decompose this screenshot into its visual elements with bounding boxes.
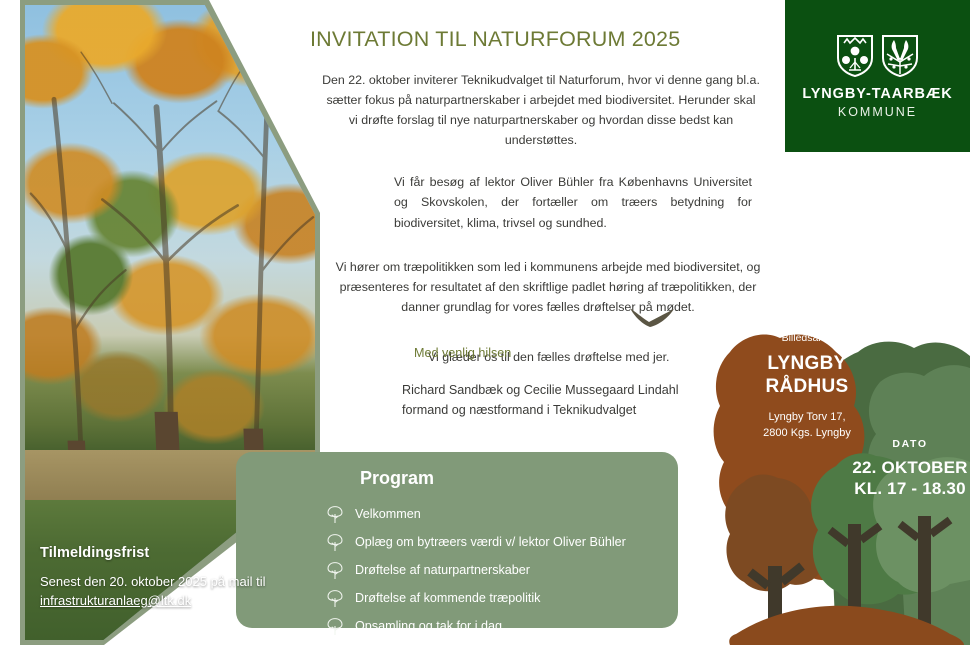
logo-shields bbox=[836, 34, 919, 78]
tree-icon bbox=[326, 504, 344, 524]
program-item-label: Oplæg om bytræers værdi v/ lektor Oliver… bbox=[355, 535, 626, 549]
crossed-oars-shield-icon bbox=[881, 34, 919, 78]
deadline-heading: Tilmeldingsfrist bbox=[40, 545, 272, 561]
tree-icon bbox=[326, 616, 344, 636]
municipality-logo: LYNGBY-TAARBÆK KOMMUNE bbox=[785, 0, 970, 152]
signature-greeting: Med venlig hilsen bbox=[414, 346, 511, 360]
program-item-label: Drøftelse af kommende træpolitik bbox=[355, 591, 540, 605]
page-title: INVITATION TIL NATURFORUM 2025 bbox=[310, 27, 680, 52]
body-paragraph-3: Vi hører om træpolitikken som led i komm… bbox=[320, 257, 776, 317]
deadline-email-link[interactable]: infrastrukturanlaeg@ltk.dk bbox=[40, 593, 191, 608]
tree-icon bbox=[326, 532, 344, 552]
venue-name-line1: LYNGBY bbox=[732, 353, 882, 376]
venue-address-line1: Lyngby Torv 17, bbox=[768, 411, 845, 423]
deadline-text: Senest den 20. oktober 2025 på mail til … bbox=[40, 573, 272, 611]
date-block: DATO 22. OKTOBER KL. 17 - 18.30 bbox=[830, 438, 970, 500]
info-blobs: STED Billedsalen LYNGBY RÅDHUS Lyngby To… bbox=[710, 286, 970, 645]
deadline-sentence: Senest den 20. oktober 2025 på mail til bbox=[40, 574, 265, 589]
program-list: Velkommen Oplæg om bytræers værdi v/ lek… bbox=[326, 500, 626, 640]
program-panel: Program Velkommen Oplæg om bytræers værd… bbox=[236, 452, 678, 628]
crown-clover-shield-icon bbox=[836, 34, 874, 78]
poster-canvas: Tilmeldingsfrist Senest den 20. oktober … bbox=[0, 0, 970, 645]
venue-label: STED bbox=[732, 313, 882, 325]
program-item: Drøftelse af naturpartnerskaber bbox=[326, 556, 626, 584]
tree-icon bbox=[326, 560, 344, 580]
program-item-label: Opsamling og tak for i dag bbox=[355, 619, 502, 633]
signature-block: Richard Sandbæk og Cecilie Mussegaard Li… bbox=[402, 380, 679, 420]
bird-icon bbox=[624, 302, 684, 336]
program-heading: Program bbox=[360, 468, 434, 489]
program-item: Velkommen bbox=[326, 500, 626, 528]
date-label: DATO bbox=[830, 438, 970, 450]
deadline-block: Tilmeldingsfrist Senest den 20. oktober … bbox=[40, 545, 272, 611]
body-paragraph-1: Den 22. oktober inviterer Teknikudvalget… bbox=[306, 70, 776, 150]
program-item: Oplæg om bytræers værdi v/ lektor Oliver… bbox=[326, 528, 626, 556]
body-text: Den 22. oktober inviterer Teknikudvalget… bbox=[306, 70, 776, 367]
logo-subtitle: KOMMUNE bbox=[838, 106, 917, 119]
venue-address-line2: 2800 Kgs. Lyngby bbox=[763, 427, 851, 439]
date-line1: 22. OKTOBER bbox=[830, 457, 970, 478]
venue-room: Billedsalen bbox=[732, 332, 882, 344]
date-line2: KL. 17 - 18.30 bbox=[830, 478, 970, 499]
program-item-label: Drøftelse af naturpartnerskaber bbox=[355, 563, 530, 577]
signature-names: Richard Sandbæk og Cecilie Mussegaard Li… bbox=[402, 380, 679, 400]
tree-icon bbox=[326, 588, 344, 608]
venue-address: Lyngby Torv 17, 2800 Kgs. Lyngby bbox=[732, 410, 882, 442]
body-paragraph-2: Vi får besøg af lektor Oliver Bühler fra… bbox=[394, 172, 752, 232]
venue-name-line2: RÅDHUS bbox=[732, 376, 882, 399]
program-item: Opsamling og tak for i dag bbox=[326, 612, 626, 640]
program-item-label: Velkommen bbox=[355, 507, 421, 521]
logo-name: LYNGBY-TAARBÆK bbox=[802, 87, 952, 102]
signature-roles: formand og næstformand i Teknikudvalget bbox=[402, 400, 679, 420]
program-item: Drøftelse af kommende træpolitik bbox=[326, 584, 626, 612]
venue-block: STED Billedsalen LYNGBY RÅDHUS Lyngby To… bbox=[732, 313, 882, 441]
